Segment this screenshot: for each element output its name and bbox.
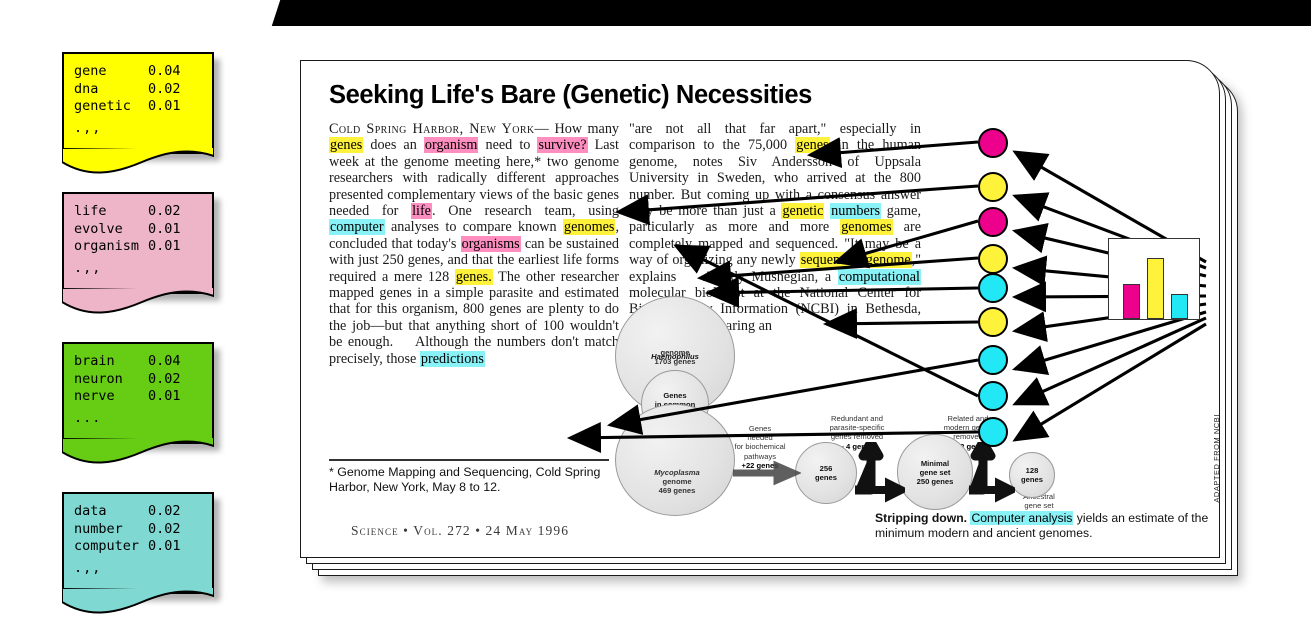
topic-assignment-5[interactable] bbox=[978, 273, 1008, 303]
topic-ellipsis: ... bbox=[74, 410, 212, 428]
hl-genes-2: genes. bbox=[455, 269, 493, 285]
hl-organism-1: organism bbox=[424, 137, 479, 153]
topic-word-row: evolve0.01 bbox=[74, 221, 212, 239]
topic-word-row: organism0.01 bbox=[74, 238, 212, 256]
hl-computer-analysis: Computer analysis bbox=[970, 511, 1073, 525]
hl-genomes-1: genomes bbox=[563, 219, 615, 235]
topic-word-probability: 0.01 bbox=[148, 98, 181, 116]
topic-word: evolve bbox=[74, 221, 148, 239]
hl-sequenced: sequenced bbox=[800, 252, 861, 268]
topic-word: data bbox=[74, 503, 148, 521]
topic-word-probability: 0.02 bbox=[148, 203, 181, 221]
evolution-topic[interactable]: life0.02evolve0.01organism0.01.,, bbox=[62, 192, 214, 294]
genetics-topic[interactable]: gene0.04dna0.02genetic0.01.,, bbox=[62, 52, 214, 154]
data-analysis-topic[interactable]: data0.02number0.02computer0.01.,, bbox=[62, 492, 214, 594]
article-column-left: Cold Spring Harbor, New York— How many g… bbox=[329, 121, 619, 367]
topic-word-probability: 0.01 bbox=[148, 221, 181, 239]
topic-card-curl-icon bbox=[62, 148, 214, 174]
proportion-bar-magenta-topic bbox=[1123, 284, 1140, 319]
256-genes-circle: 256 genes bbox=[795, 442, 857, 504]
article-title: Seeking Life's Bare (Genetic) Necessitie… bbox=[329, 81, 812, 110]
hl-genes-1: genes bbox=[329, 137, 363, 153]
topic-word-row: life0.02 bbox=[74, 203, 212, 221]
topic-word-probability: 0.01 bbox=[148, 388, 181, 406]
topic-ellipsis: .,, bbox=[74, 560, 212, 578]
topic-assignment-9[interactable] bbox=[978, 417, 1008, 447]
topic-word-probability: 0.02 bbox=[148, 81, 181, 99]
topic-word: gene bbox=[74, 63, 148, 81]
topic-word-probability: 0.02 bbox=[148, 371, 181, 389]
flow-arrow-2-icon bbox=[849, 442, 905, 504]
topic-assignment-6[interactable] bbox=[978, 307, 1008, 337]
hl-genetic: genetic bbox=[781, 203, 824, 219]
topic-word: life bbox=[74, 203, 148, 221]
topic-ellipsis: .,, bbox=[74, 260, 212, 278]
topic-word: organism bbox=[74, 238, 148, 256]
topic-card-curl-icon bbox=[62, 438, 214, 464]
haemophilus-genome-sublabel: genome1703 genes bbox=[627, 348, 723, 366]
topic-card-curl-icon bbox=[62, 588, 214, 614]
topic-card-curl-icon bbox=[62, 288, 214, 314]
document-front-page[interactable]: Seeking Life's Bare (Genetic) Necessitie… bbox=[300, 60, 1220, 558]
128-genes-circle: 128 genes bbox=[1009, 452, 1055, 498]
topic-word-row: genetic0.01 bbox=[74, 98, 212, 116]
topic-assignment-7[interactable] bbox=[978, 345, 1008, 375]
topic-assignment-3[interactable] bbox=[978, 207, 1008, 237]
stripping-down-figure: Haemophilus genome1703 genes Genes in co… bbox=[611, 296, 1220, 526]
journal-issue-line: Science • Vol. 272 • 24 May 1996 bbox=[351, 523, 569, 539]
topic-word-probability: 0.04 bbox=[148, 63, 181, 81]
proportion-bar-cyan-topic bbox=[1171, 294, 1188, 319]
topic-assignment-8[interactable] bbox=[978, 381, 1008, 411]
topic-word-probability: 0.04 bbox=[148, 353, 181, 371]
topic-word-row: number0.02 bbox=[74, 521, 212, 539]
topic-word-row: nerve0.01 bbox=[74, 388, 212, 406]
mycoplasma-genome-sublabel: Mycoplasmagenome469 genes bbox=[629, 468, 725, 496]
topic-word: dna bbox=[74, 81, 148, 99]
hl-genomes-2: genomes bbox=[840, 219, 892, 235]
figure-credit: ADAPTED FROM NCBI bbox=[1212, 414, 1220, 503]
hl-predictions: predictions bbox=[420, 351, 485, 367]
neuroscience-topic[interactable]: brain0.04neuron0.02nerve0.01... bbox=[62, 342, 214, 444]
topic-word-probability: 0.01 bbox=[148, 538, 181, 556]
topic-ellipsis: .,, bbox=[74, 120, 212, 138]
topic-proportions-chart[interactable] bbox=[1108, 238, 1200, 320]
hl-genes-3: genes bbox=[795, 137, 829, 153]
topic-word: brain bbox=[74, 353, 148, 371]
hl-computational: computational bbox=[838, 269, 921, 285]
hl-computer: computer bbox=[329, 219, 385, 235]
topic-word-row: computer0.01 bbox=[74, 538, 212, 556]
topic-word-probability: 0.01 bbox=[148, 238, 181, 256]
hl-organisms: organisms bbox=[461, 236, 521, 252]
hl-numbers: numbers bbox=[830, 203, 881, 219]
topic-word: nerve bbox=[74, 388, 148, 406]
hl-genome: genome bbox=[865, 252, 912, 268]
topic-word-probability: 0.02 bbox=[148, 521, 181, 539]
topic-word-row: brain0.04 bbox=[74, 353, 212, 371]
topic-word: neuron bbox=[74, 371, 148, 389]
flow-arrow-3-icon bbox=[963, 442, 1015, 504]
figure-caption-lead: Stripping down. bbox=[875, 511, 967, 525]
topic-assignment-4[interactable] bbox=[978, 244, 1008, 274]
proportion-bar-yellow-topic bbox=[1147, 258, 1164, 319]
article-footnote: * Genome Mapping and Sequencing, Cold Sp… bbox=[329, 465, 614, 494]
topic-word-probability: 0.02 bbox=[148, 503, 181, 521]
topic-word-row: data0.02 bbox=[74, 503, 212, 521]
topic-word: number bbox=[74, 521, 148, 539]
topic-word: genetic bbox=[74, 98, 148, 116]
flow-arrow-1-icon bbox=[731, 456, 801, 490]
topic-word-row: dna0.02 bbox=[74, 81, 212, 99]
article-dateline: Cold Spring Harbor, New York— bbox=[329, 121, 549, 137]
topic-word: computer bbox=[74, 538, 148, 556]
minimal-gene-set-circle: Minimal gene set 250 genes bbox=[897, 434, 973, 510]
hl-life: life bbox=[411, 203, 432, 219]
hl-survive: survive? bbox=[537, 137, 587, 153]
topic-assignment-1[interactable] bbox=[978, 128, 1008, 158]
footnote-rule bbox=[329, 459, 609, 461]
topic-assignment-2[interactable] bbox=[978, 172, 1008, 202]
lda-topic-model-illustration: gene0.04dna0.02genetic0.01.,,life0.02evo… bbox=[0, 0, 1311, 637]
topic-word-row: neuron0.02 bbox=[74, 371, 212, 389]
topic-word-row: gene0.04 bbox=[74, 63, 212, 81]
figure-caption: Stripping down. Computer analysis yields… bbox=[875, 511, 1220, 540]
top-crop-band bbox=[300, 0, 1311, 26]
